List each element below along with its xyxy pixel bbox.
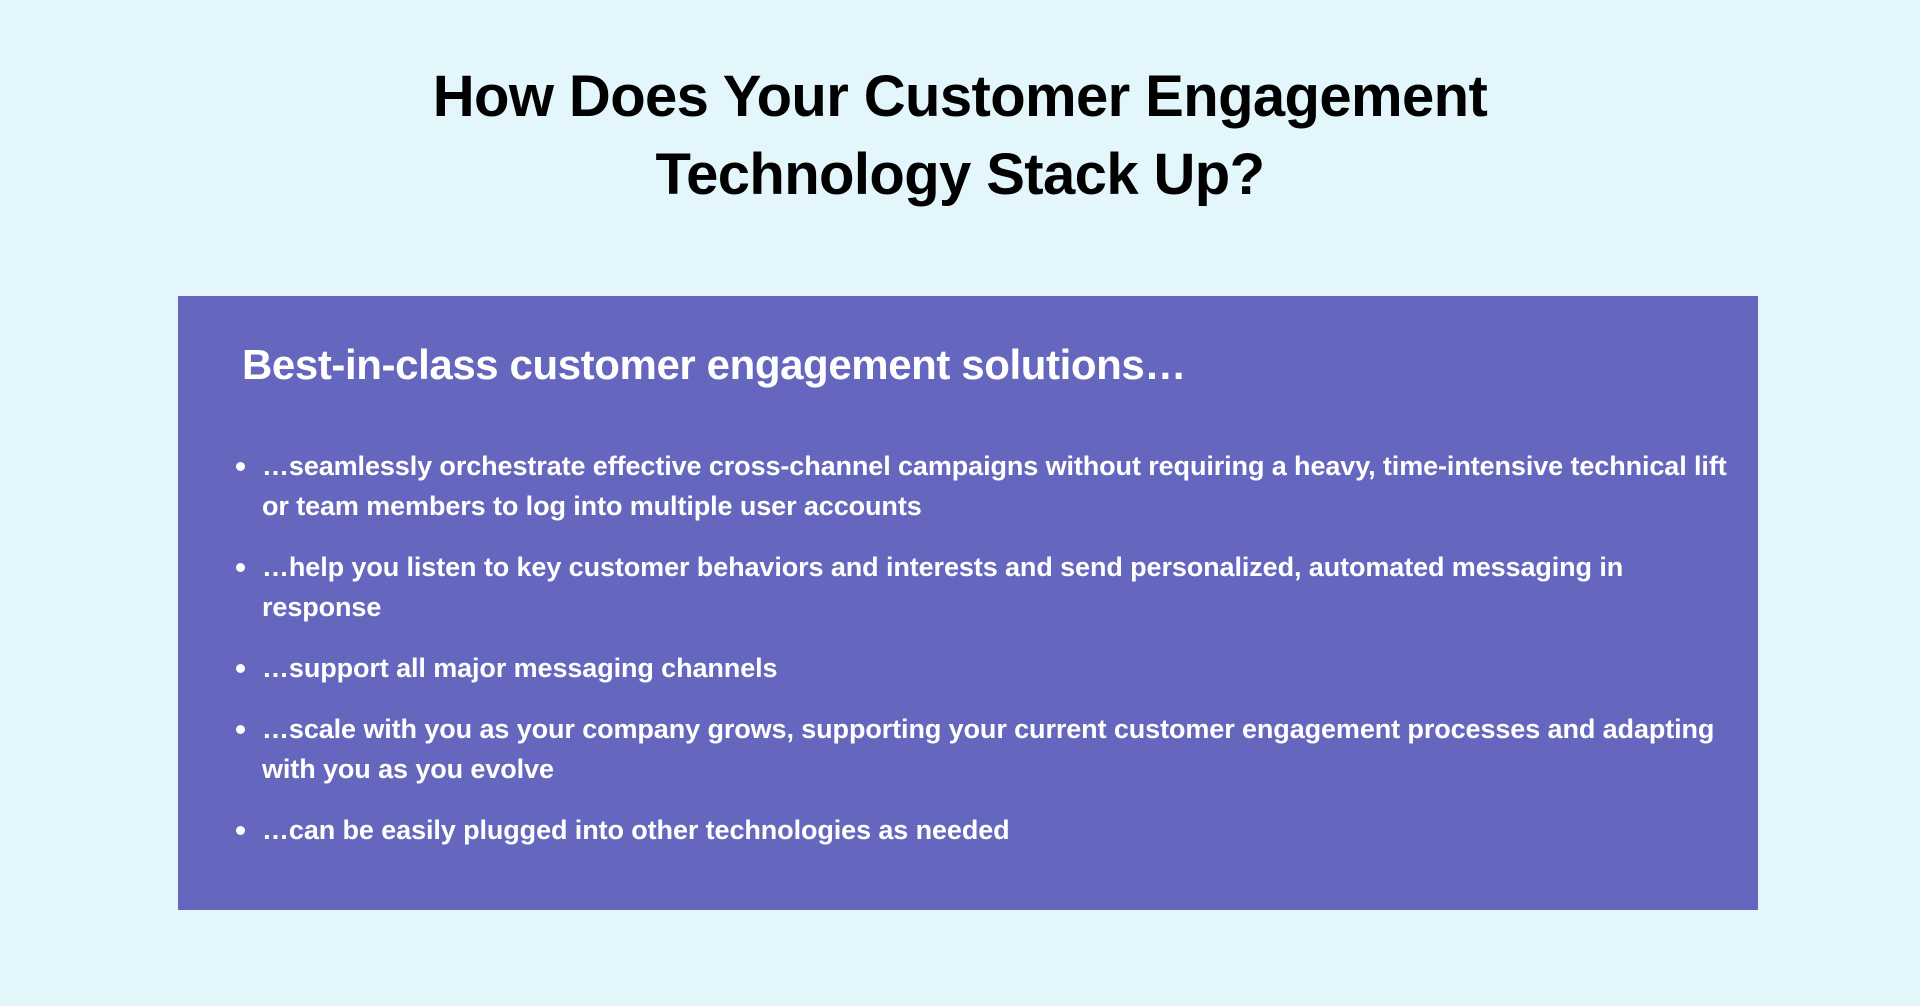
page-title: How Does Your Customer Engagement Techno… (0, 58, 1920, 214)
bullet-dot-icon (236, 563, 245, 572)
bullet-dot-icon (236, 664, 245, 673)
list-item-text: …help you listen to key customer behavio… (262, 547, 1728, 627)
panel-heading: Best-in-class customer engagement soluti… (242, 340, 1186, 390)
list-item-text: …seamlessly orchestrate effective cross-… (262, 446, 1728, 526)
bullet-dot-icon (236, 826, 245, 835)
page-title-line-2: Technology Stack Up? (0, 136, 1920, 214)
list-item-text: …scale with you as your company grows, s… (262, 709, 1728, 789)
benefits-bullet-list: …seamlessly orchestrate effective cross-… (228, 446, 1728, 850)
list-item: …seamlessly orchestrate effective cross-… (228, 446, 1728, 526)
list-item: …scale with you as your company grows, s… (228, 709, 1728, 789)
bullet-dot-icon (236, 462, 245, 471)
list-item-text: …support all major messaging channels (262, 648, 1728, 688)
list-item: …help you listen to key customer behavio… (228, 547, 1728, 627)
list-item: …support all major messaging channels (228, 648, 1728, 688)
list-item-text: …can be easily plugged into other techno… (262, 810, 1728, 850)
list-item: …can be easily plugged into other techno… (228, 810, 1728, 850)
slide-canvas: How Does Your Customer Engagement Techno… (0, 0, 1920, 1006)
content-panel: Best-in-class customer engagement soluti… (178, 296, 1758, 910)
page-title-line-1: How Does Your Customer Engagement (0, 58, 1920, 136)
bullet-dot-icon (236, 725, 245, 734)
